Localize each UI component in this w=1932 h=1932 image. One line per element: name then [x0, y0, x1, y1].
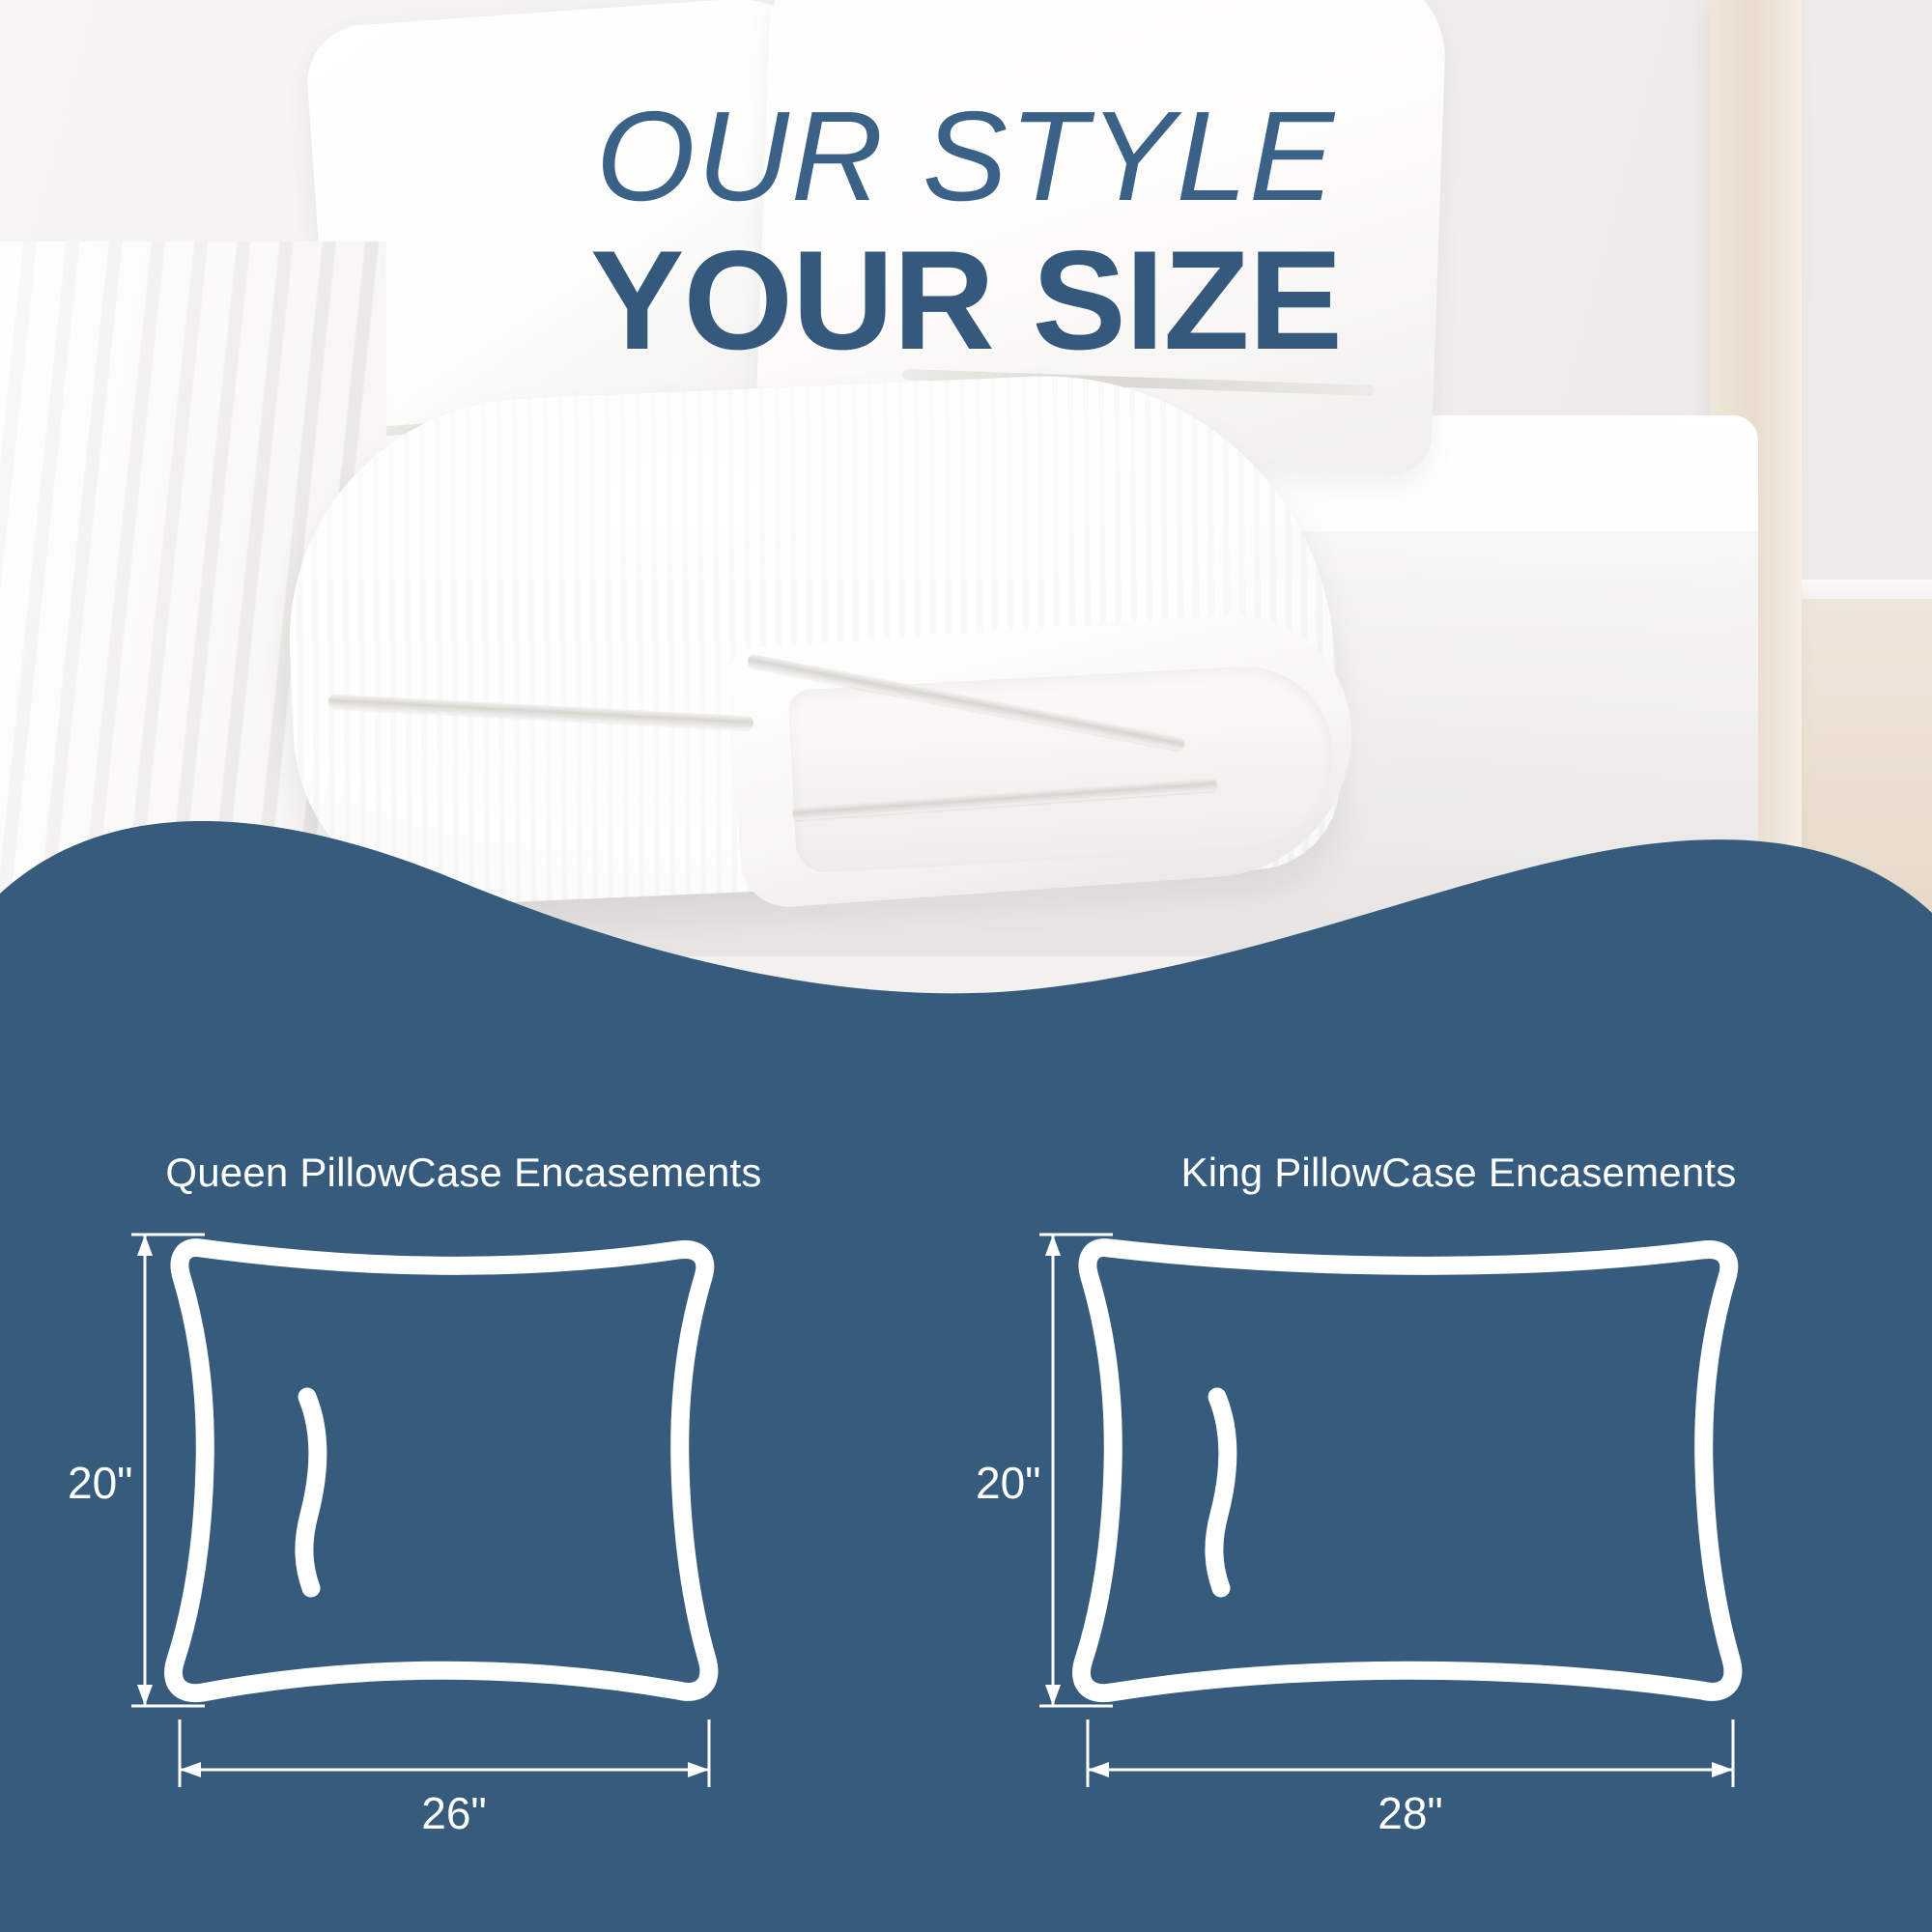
king-size-diagram: King PillowCase Encasements 20" 28" — [976, 1150, 1903, 1884]
queen-diagram-title: Queen PillowCase Encasements — [126, 1150, 802, 1196]
king-width-label: 28" — [1304, 1787, 1517, 1839]
pillow-outline-icon — [68, 1207, 860, 1884]
king-diagram-title: King PillowCase Encasements — [1092, 1150, 1826, 1196]
queen-height-label: 20" — [68, 1457, 133, 1509]
pillow-outline-icon — [976, 1207, 1903, 1884]
queen-size-diagram: Queen PillowCase Encasements — [68, 1150, 860, 1884]
king-height-label: 20" — [976, 1457, 1041, 1509]
queen-width-label: 26" — [348, 1787, 560, 1839]
infographic-canvas: OUR STYLE YOUR SIZE Queen PillowCase Enc… — [0, 0, 1932, 1932]
